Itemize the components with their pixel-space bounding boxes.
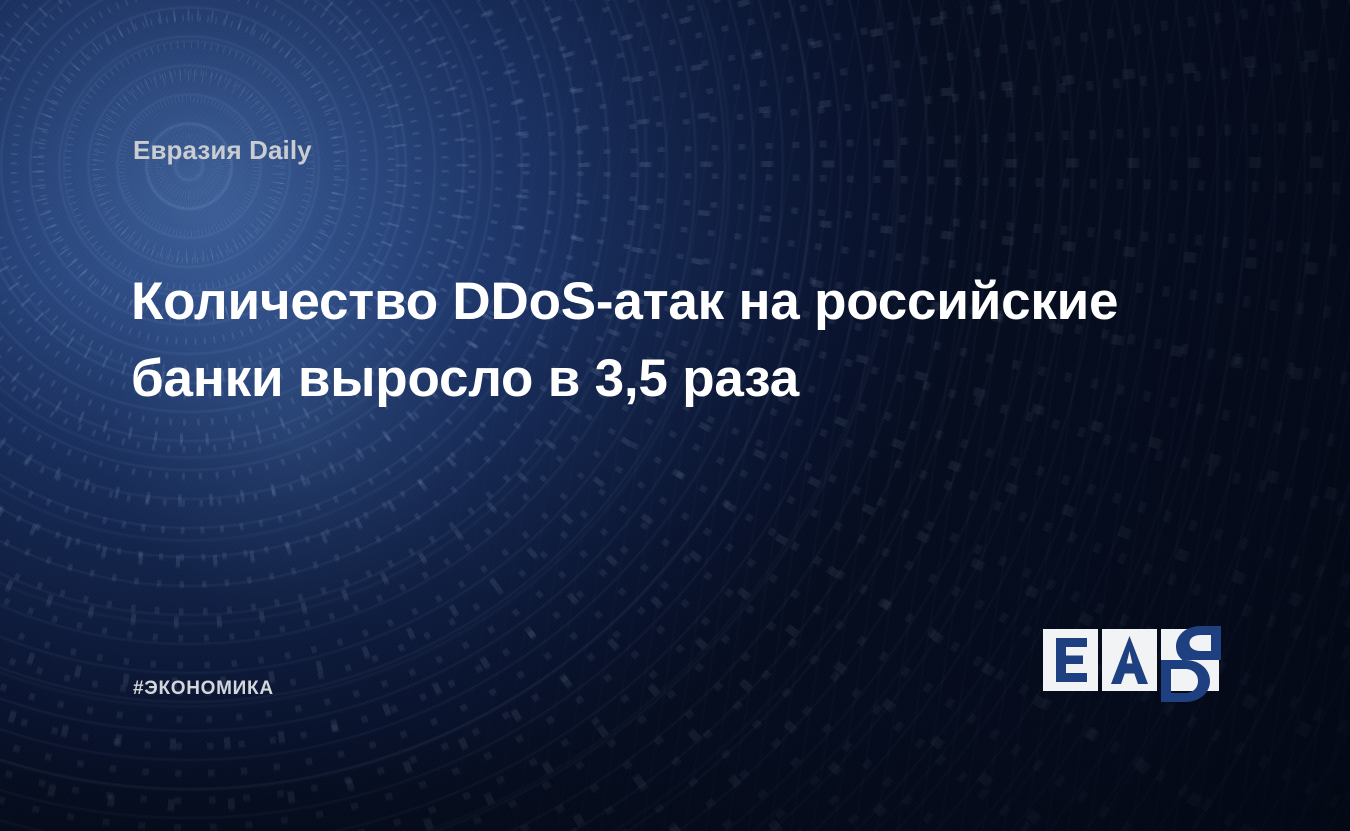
ead-logo[interactable] <box>1043 629 1219 691</box>
letter-a-tile <box>1102 629 1157 691</box>
letter-e-tile <box>1043 629 1098 691</box>
category-tag[interactable]: #ЭКОНОМИКА <box>133 678 274 700</box>
letter-d-split-tile <box>1161 629 1219 691</box>
brand-name: Евразия Daily <box>133 135 312 166</box>
headline-line-1: Количество DDoS-атак на российские <box>131 263 1171 340</box>
news-share-card: Евразия Daily Количество DDoS-атак на ро… <box>0 0 1350 831</box>
page-title: Количество DDoS-атак на российские банки… <box>131 263 1171 418</box>
card-content: Евразия Daily Количество DDoS-атак на ро… <box>0 0 1350 831</box>
headline-line-2: банки выросло в 3,5 раза <box>131 340 1171 417</box>
